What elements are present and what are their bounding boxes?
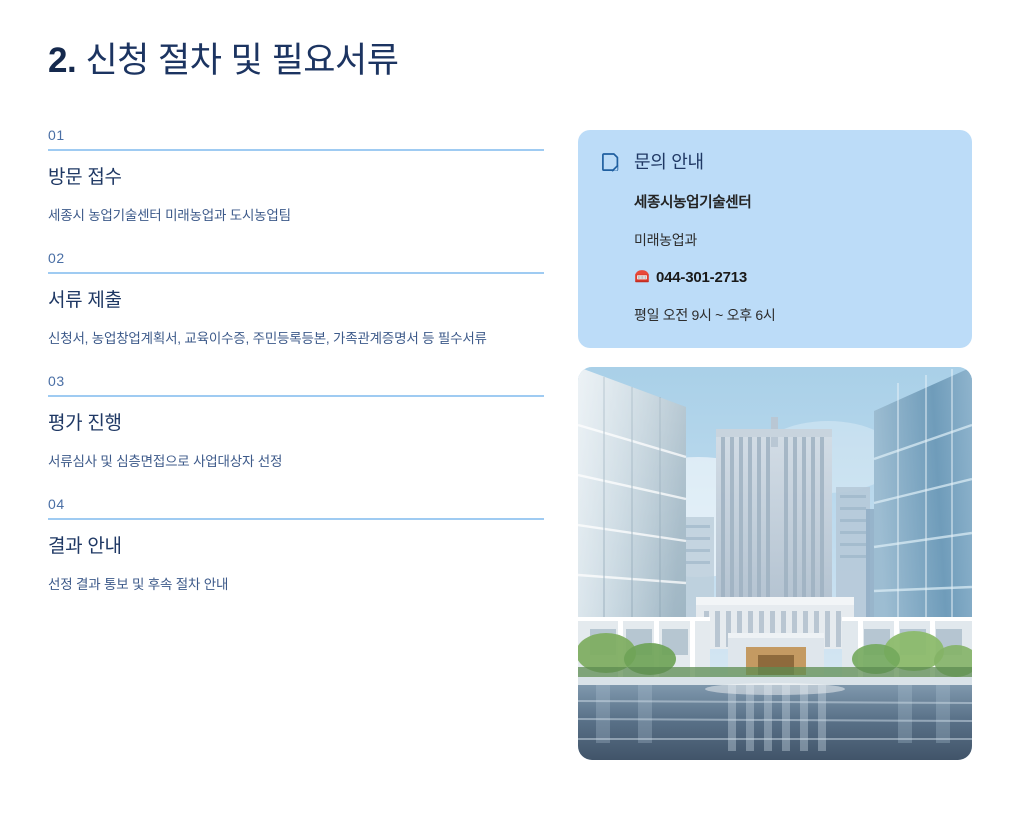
contact-department: 미래농업과 <box>634 230 950 250</box>
note-icon <box>600 152 620 172</box>
step-divider <box>48 518 544 520</box>
step-title: 결과 안내 <box>48 534 544 560</box>
steps-list: 01 방문 접수 세종시 농업기술센터 미래농업과 도시농업팀 02 서류 제출… <box>48 126 544 596</box>
page-title-number: 2. <box>48 41 76 80</box>
building-illustration <box>578 367 972 760</box>
step-divider <box>48 272 544 274</box>
step-number: 01 <box>48 126 544 149</box>
step-description: 서류심사 및 심층면접으로 사업대상자 선정 <box>48 451 542 473</box>
contact-card-header: 문의 안내 <box>600 150 950 174</box>
contact-card-body: 세종시농업기술센터 미래농업과 <box>600 193 950 325</box>
contact-phone-number[interactable]: 044-301-2713 <box>656 267 747 288</box>
telephone-icon <box>634 268 650 287</box>
page-title: 2. 신청 절차 및 필요서류 <box>48 38 398 84</box>
step-title: 방문 접수 <box>48 165 544 191</box>
contact-organization: 세종시농업기술센터 <box>634 193 950 213</box>
step-title: 평가 진행 <box>48 411 544 437</box>
step-item: 03 평가 진행 서류심사 및 심층면접으로 사업대상자 선정 <box>48 372 544 473</box>
step-description: 신청서, 농업창업계획서, 교육이수증, 주민등록등본, 가족관계증명서 등 필… <box>48 328 542 350</box>
step-divider <box>48 395 544 397</box>
step-item: 04 결과 안내 선정 결과 통보 및 후속 절차 안내 <box>48 495 544 596</box>
step-number: 02 <box>48 249 544 272</box>
contact-phone-row: 044-301-2713 <box>634 267 950 288</box>
right-column: 문의 안내 세종시농업기술센터 미래농업과 <box>578 130 972 760</box>
contact-card-title: 문의 안내 <box>634 150 704 174</box>
step-description: 선정 결과 통보 및 후속 절차 안내 <box>48 574 542 596</box>
step-divider <box>48 149 544 151</box>
step-title: 서류 제출 <box>48 288 544 314</box>
contact-card: 문의 안내 세종시농업기술센터 미래농업과 <box>578 130 972 348</box>
step-item: 01 방문 접수 세종시 농업기술센터 미래농업과 도시농업팀 <box>48 126 544 227</box>
step-item: 02 서류 제출 신청서, 농업창업계획서, 교육이수증, 주민등록등본, 가족… <box>48 249 544 350</box>
step-number: 04 <box>48 495 544 518</box>
contact-hours: 평일 오전 9시 ~ 오후 6시 <box>634 305 950 325</box>
page-title-text: 신청 절차 및 필요서류 <box>85 41 398 80</box>
step-description: 세종시 농업기술센터 미래농업과 도시농업팀 <box>48 205 542 227</box>
step-number: 03 <box>48 372 544 395</box>
slide-root: 2. 신청 절차 및 필요서류 01 방문 접수 세종시 농업기술센터 미래농업… <box>0 0 1024 819</box>
